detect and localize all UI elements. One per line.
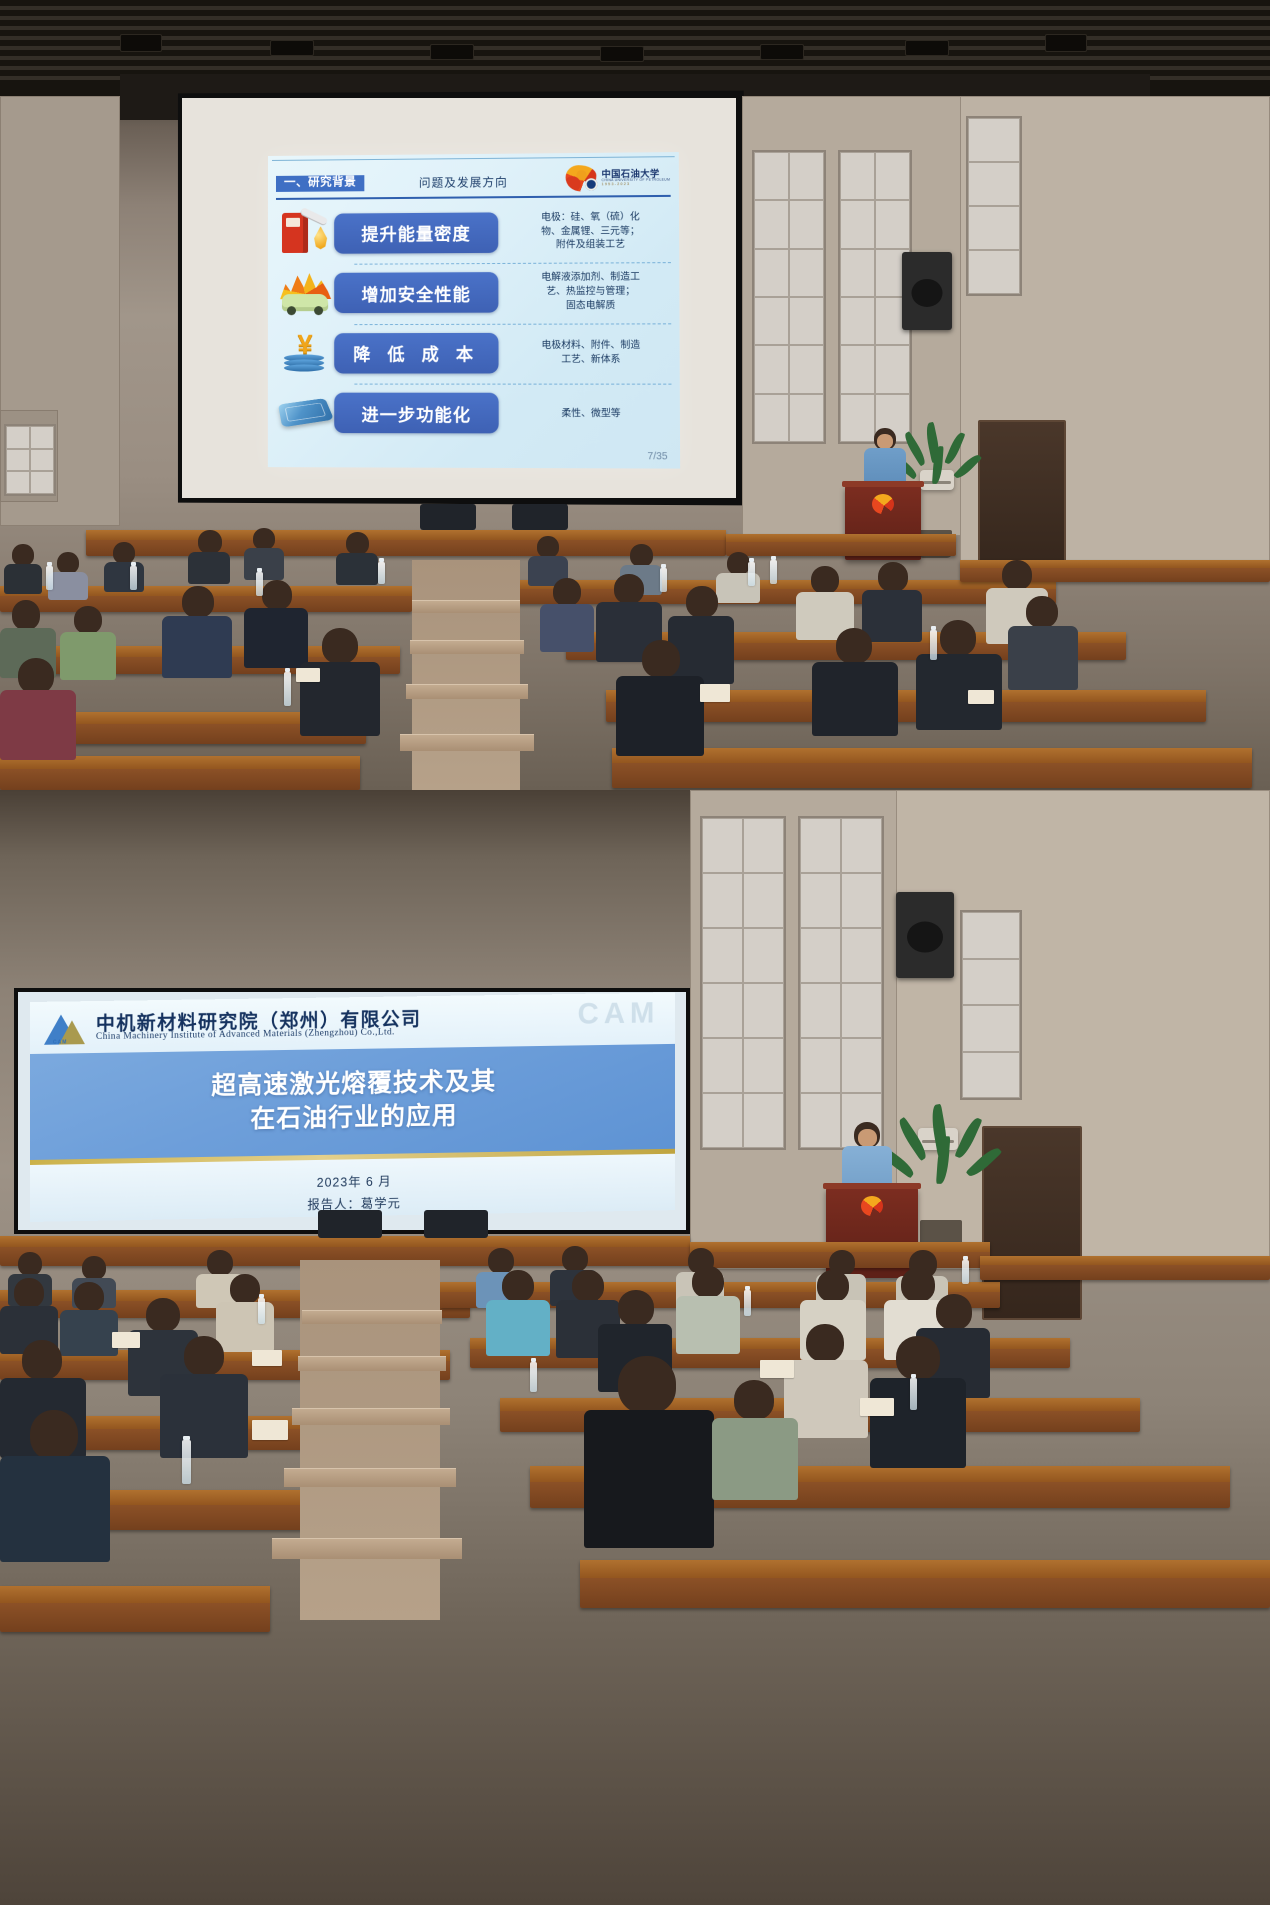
slide-row: 进一步功能化 柔性、微型等 bbox=[276, 386, 672, 442]
presentation-title: 超高速激光熔覆技术及其 在石油行业的应用 bbox=[30, 1062, 675, 1140]
wall-speaker bbox=[902, 252, 952, 330]
burning-car-icon bbox=[276, 270, 334, 316]
anniversary-flame-icon bbox=[566, 163, 599, 194]
row-pill: 降 低 成 本 bbox=[334, 333, 498, 374]
row-description: 电解液添加剂、制造工 艺、热监控与管理； 固态电解质 bbox=[498, 271, 671, 314]
slide-page-number: 7/35 bbox=[647, 451, 667, 462]
fuel-pump-icon bbox=[276, 210, 334, 257]
slide-row: ¥ 降 低 成 本 电极材料、附件、制造 工艺、新体系 bbox=[276, 325, 672, 381]
row-pill: 进一步功能化 bbox=[334, 393, 498, 434]
cam-watermark: CAM bbox=[578, 999, 660, 1030]
row-description: 电极材料、附件、制造 工艺、新体系 bbox=[498, 339, 671, 368]
row-description: 电极：硅、氧（硫）化 物、金属锂、三元等； 附件及组装工艺 bbox=[498, 210, 671, 253]
row-description: 柔性、微型等 bbox=[499, 406, 672, 420]
row-pill: 增加安全性能 bbox=[334, 272, 498, 313]
audience-member-front bbox=[584, 1356, 714, 1546]
slide-title-page: CAM 中机新材料研究院（郑州）有限公司 China Machinery Ins… bbox=[30, 1002, 682, 1222]
slide-header: 一、研究背景 bbox=[276, 173, 364, 194]
row-pill: 提升能量密度 bbox=[334, 212, 498, 253]
section-chip: 一、研究背景 bbox=[276, 175, 364, 192]
slide-row: 提升能量密度 电极：硅、氧（硫）化 物、金属锂、三元等； 附件及组装工艺 bbox=[276, 203, 671, 261]
upper-lecture-hall-scene: 一、研究背景 问题及发展方向 中国石油大学 CHINA UNIVERSITY O… bbox=[0, 0, 1270, 790]
cup-university-logo: 中国石油大学 CHINA UNIVERSITY OF PETROLEUM 195… bbox=[566, 160, 673, 195]
flexible-cell-icon bbox=[276, 390, 334, 436]
slide-row: 增加安全性能 电解液添加剂、制造工 艺、热监控与管理； 固态电解质 bbox=[276, 264, 671, 321]
slide-research-background: 一、研究背景 问题及发展方向 中国石油大学 CHINA UNIVERSITY O… bbox=[268, 152, 680, 469]
cam-logo-text: CAM bbox=[53, 1039, 67, 1045]
wall-speaker bbox=[896, 892, 954, 978]
lecture-hall-screenshot: 一、研究背景 问题及发展方向 中国石油大学 CHINA UNIVERSITY O… bbox=[0, 0, 1270, 1905]
cam-logo-icon: CAM bbox=[44, 1010, 90, 1045]
exit-door bbox=[978, 420, 1066, 574]
slide-subtitle: 问题及发展方向 bbox=[419, 174, 508, 191]
slide-rows: 提升能量密度 电极：硅、氧（硫）化 物、金属锂、三元等； 附件及组装工艺 增加安… bbox=[276, 203, 672, 442]
lower-lecture-hall-scene: CAM 中机新材料研究院（郑州）有限公司 China Machinery Ins… bbox=[0, 790, 1270, 1905]
logo-years: 1953-2023 bbox=[602, 183, 671, 187]
yuan-coin-icon: ¥ bbox=[276, 330, 334, 376]
